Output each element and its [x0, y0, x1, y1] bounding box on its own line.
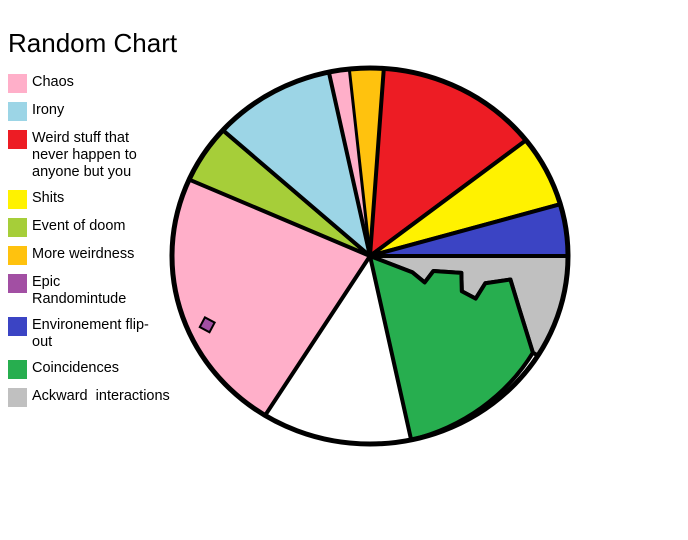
legend-label-environement-flip-out: Environement flip- out [32, 317, 149, 351]
chart-root: Random Chart Chaos Irony Weird stuff tha… [0, 0, 688, 540]
legend-label-epic-randomintude: Epic Randomintude [32, 274, 126, 308]
legend-swatch-event-of-doom [8, 218, 27, 237]
legend-label-chaos: Chaos [32, 74, 74, 91]
legend-swatch-environement-flip-out [8, 317, 27, 336]
pie-slice-coincidences [370, 256, 533, 440]
legend-swatch-irony [8, 102, 27, 121]
legend-swatch-epic-randomintude [8, 274, 27, 293]
legend-label-event-of-doom: Event of doom [32, 218, 126, 235]
legend-swatch-more-weirdness [8, 246, 27, 265]
legend-swatch-chaos [8, 74, 27, 93]
legend-label-irony: Irony [32, 102, 64, 119]
pie-chart-svg [160, 56, 580, 456]
pie-slices [172, 68, 568, 444]
pie-chart-area [160, 56, 580, 456]
legend-swatch-shits [8, 190, 27, 209]
legend-swatch-ackward-interactions [8, 388, 27, 407]
legend-swatch-coincidences [8, 360, 27, 379]
legend-label-ackward-interactions: Ackward interactions [32, 388, 170, 405]
page-title: Random Chart [8, 28, 177, 58]
legend-label-more-weirdness: More weirdness [32, 246, 134, 263]
legend-swatch-weird-stuff [8, 130, 27, 149]
legend-label-weird-stuff: Weird stuff that never happen to anyone … [32, 130, 137, 181]
legend-label-coincidences: Coincidences [32, 360, 119, 377]
legend-label-shits: Shits [32, 190, 64, 207]
